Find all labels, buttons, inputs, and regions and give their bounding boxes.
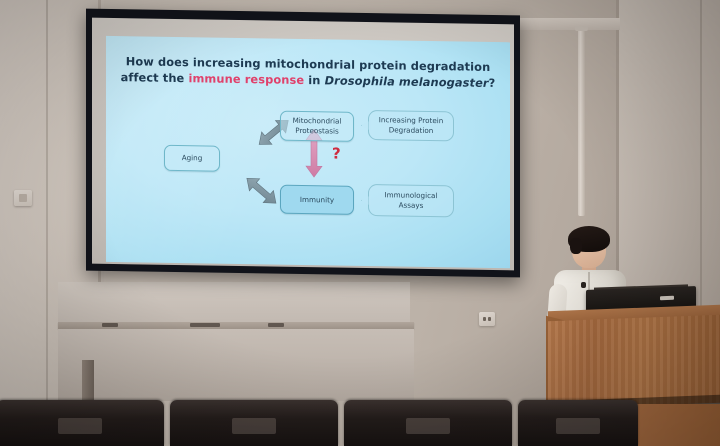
- whiteboard-lower-panel: [58, 329, 414, 401]
- diagram-question-mark: ?: [332, 144, 341, 162]
- slide-title-line2-post: ?: [489, 75, 496, 89]
- diagram-callout-immunological-assays[interactable]: Immunological Assays: [368, 184, 454, 217]
- chair[interactable]: [170, 400, 338, 446]
- projection-screen: How does increasing mitochondrial protei…: [86, 9, 520, 278]
- wall-pipe: [578, 28, 585, 216]
- diagram-node-proteostasis-label: Mitochondrial Proteostasis: [293, 116, 342, 136]
- callout-immunological-assays-label: Immunological Assays: [385, 191, 438, 211]
- marker-pen[interactable]: [102, 323, 118, 327]
- slide-title-line2-mid: in: [304, 73, 324, 87]
- wall-pipe-cap: [575, 26, 588, 31]
- slide-title-line2-pre: affect the: [121, 70, 189, 85]
- slide-diagram: Aging Mitochondrial Proteostasis Immunit…: [106, 96, 510, 262]
- diagram-node-mitochondrial-proteostasis[interactable]: Mitochondrial Proteostasis: [280, 111, 354, 142]
- diagram-callout-increasing-protein-degradation[interactable]: Increasing Protein Degradation: [368, 110, 454, 141]
- slide-title-highlight: immune response: [188, 71, 304, 87]
- chair[interactable]: [344, 400, 512, 446]
- wall-panel-seam: [46, 0, 48, 430]
- presenter-hair: [568, 226, 610, 252]
- slide-title: How does increasing mitochondrial protei…: [106, 54, 510, 91]
- marker-pen[interactable]: [190, 323, 220, 327]
- diagram-node-immunity-label: Immunity: [300, 195, 334, 205]
- slide-title-species: Drosophila melanogaster: [325, 73, 489, 90]
- marker-pen[interactable]: [268, 323, 284, 327]
- wall-outlet[interactable]: [479, 312, 495, 326]
- chair[interactable]: [518, 400, 638, 446]
- diagram-node-aging-label: Aging: [182, 153, 203, 163]
- diagram-node-immunity[interactable]: Immunity: [280, 185, 354, 215]
- support-post: [82, 360, 94, 400]
- presentation-slide: How does increasing mitochondrial protei…: [106, 36, 510, 268]
- lecture-hall-scene: How does increasing mitochondrial protei…: [0, 0, 720, 446]
- whiteboard: [58, 282, 410, 324]
- arrow-aging-immunity: [242, 172, 281, 209]
- diagram-node-aging[interactable]: Aging: [164, 145, 220, 172]
- light-switch[interactable]: [14, 190, 32, 206]
- lapel-mic: [581, 282, 586, 288]
- ceiling-soffit: [505, 18, 620, 30]
- laptop-label: [660, 296, 674, 300]
- screen-mat: How does increasing mitochondrial protei…: [92, 18, 514, 271]
- callout-protein-degradation-label: Increasing Protein Degradation: [379, 116, 444, 136]
- chair[interactable]: [0, 400, 164, 446]
